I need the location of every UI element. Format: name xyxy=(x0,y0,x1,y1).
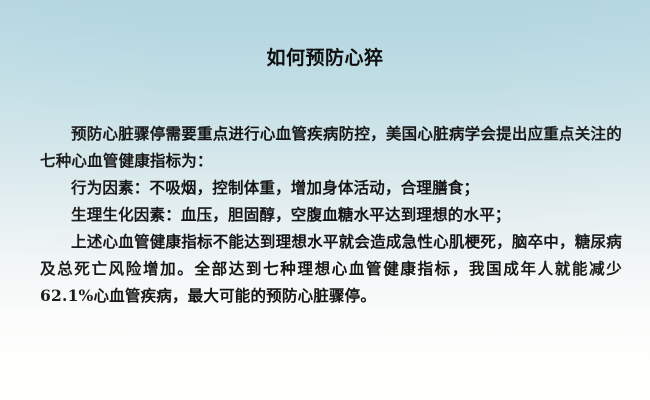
body-paragraph-3: 生理生化因素：血压，胆固醇，空腹血糖水平达到理想的水平； xyxy=(40,201,622,228)
body-paragraph-1: 预防心脏骤停需要重点进行心血管疾病防控，美国心脏病学会提出应重点关注的七种心血管… xyxy=(40,120,622,174)
body-paragraph-4: 上述心血管健康指标不能达到理想水平就会造成急性心肌梗死，脑卒中，糖尿病及总死亡风… xyxy=(40,228,622,309)
slide-body: 预防心脏骤停需要重点进行心血管疾病防控，美国心脏病学会提出应重点关注的七种心血管… xyxy=(40,120,622,309)
body-paragraph-2: 行为因素：不吸烟，控制体重，增加身体活动，合理膳食； xyxy=(40,174,622,201)
slide-canvas: 如何预防心猝 预防心脏骤停需要重点进行心血管疾病防控，美国心脏病学会提出应重点关… xyxy=(0,0,650,400)
slide-title: 如何预防心猝 xyxy=(0,46,650,70)
